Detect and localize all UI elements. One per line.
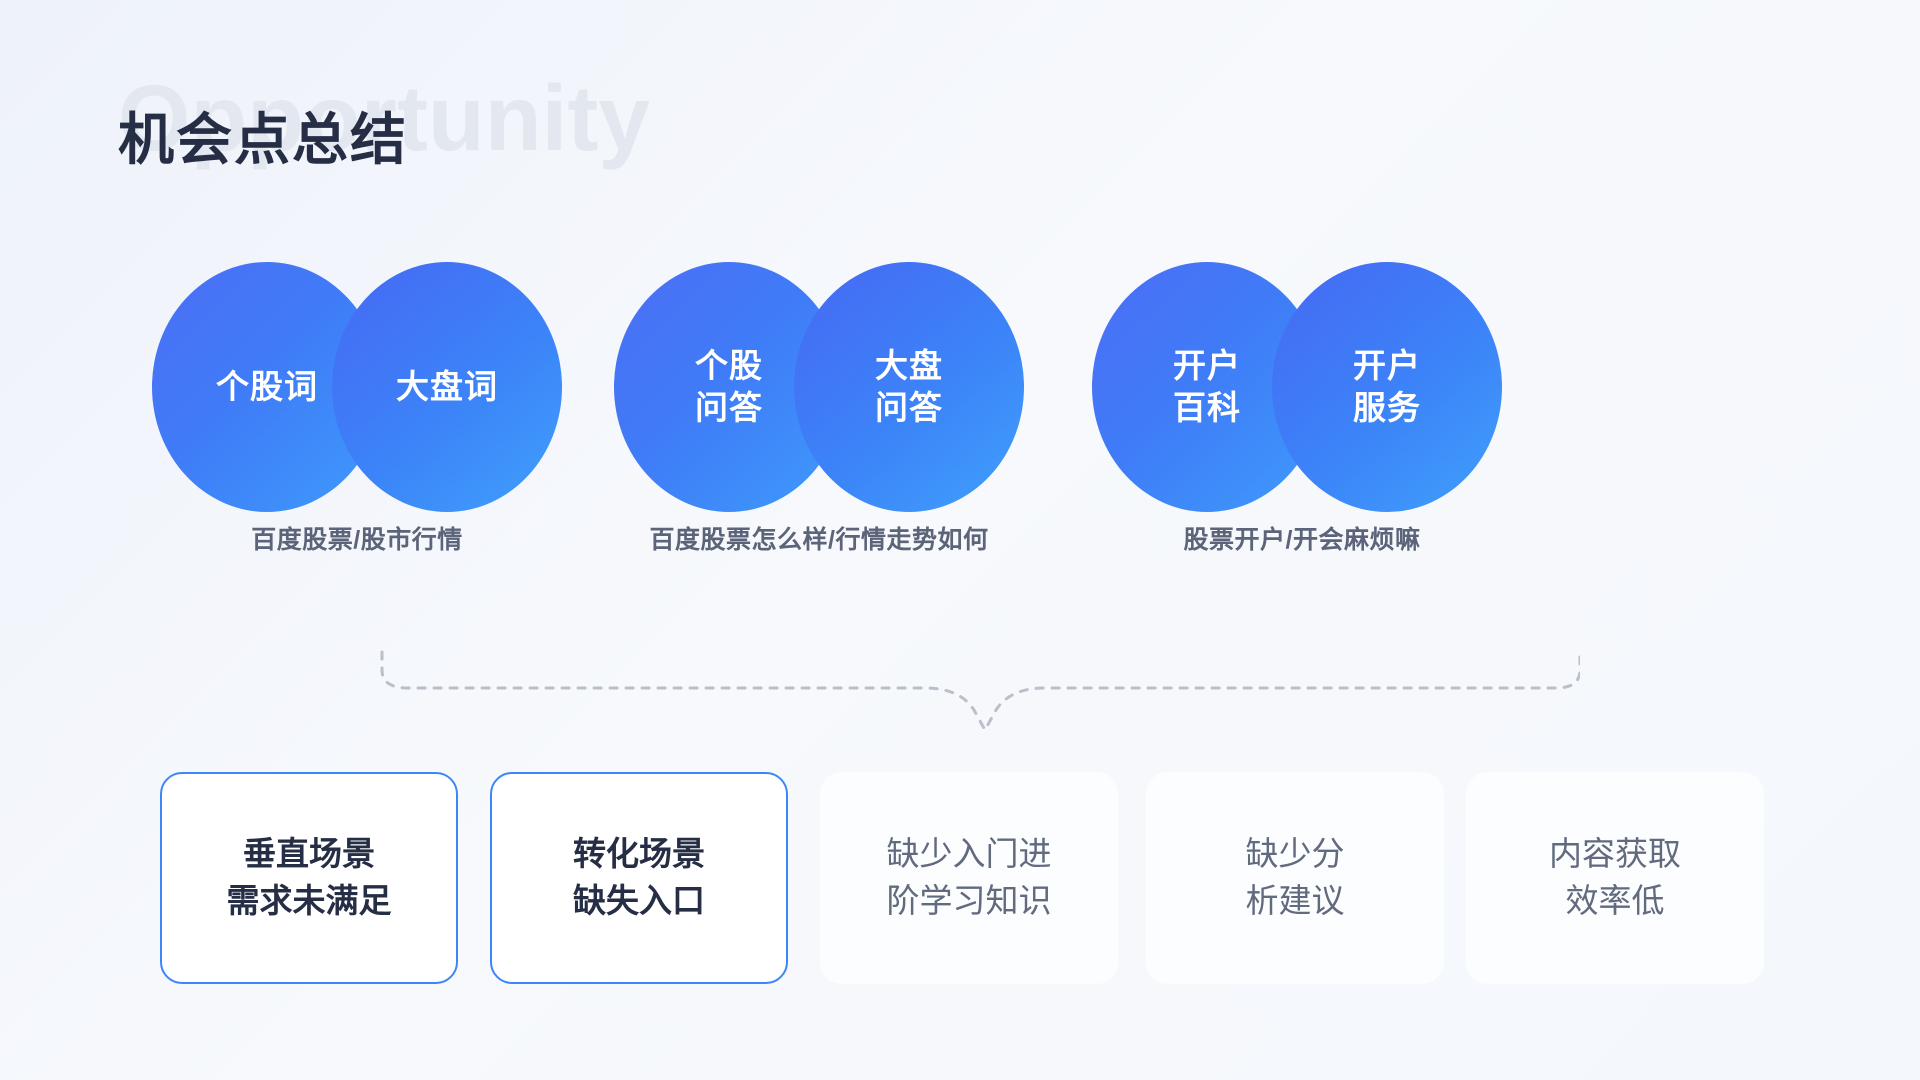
card-vertical-scenario[interactable]: 垂直场景 需求未满足 (160, 772, 458, 984)
dashed-brace-connector (360, 630, 1580, 750)
card-conversion-scenario[interactable]: 转化场景 缺失入口 (490, 772, 788, 984)
circle-label: 开户 服务 (1353, 345, 1421, 429)
circle-label: 大盘词 (396, 366, 498, 408)
circle-label: 大盘 问答 (875, 345, 943, 429)
page-title: 机会点总结 (118, 112, 408, 168)
circle-label: 个股 问答 (695, 345, 763, 429)
page-header: Opportunity 机会点总结 (118, 72, 1018, 212)
circle-market-word[interactable]: 大盘词 (332, 262, 562, 512)
circle-groups: 个股词 大盘词 百度股票/股市行情 个股 问答 大盘 问答 百度股票怎么样/行情… (0, 262, 1920, 592)
card-label: 转化场景 缺失入口 (573, 831, 705, 925)
circle-label: 个股词 (216, 366, 318, 408)
circle-group-1: 个股 问答 大盘 问答 百度股票怎么样/行情走势如何 (614, 262, 1024, 592)
circle-label: 开户 百科 (1173, 345, 1241, 429)
brace-path (382, 652, 1580, 730)
circle-pair: 个股词 大盘词 (152, 262, 562, 512)
group-caption-2: 股票开户/开会麻烦嘛 (1122, 520, 1482, 556)
circle-account-service[interactable]: 开户 服务 (1272, 262, 1502, 512)
card-label: 缺少分 析建议 (1246, 831, 1345, 925)
group-caption-1: 百度股票怎么样/行情走势如何 (589, 520, 1049, 556)
card-lack-beginner-knowledge[interactable]: 缺少入门进 阶学习知识 (820, 772, 1118, 984)
circle-group-2: 开户 百科 开户 服务 股票开户/开会麻烦嘛 (1092, 262, 1502, 592)
circle-pair: 开户 百科 开户 服务 (1092, 262, 1502, 512)
circle-market-qa[interactable]: 大盘 问答 (794, 262, 1024, 512)
card-lack-analysis-advice[interactable]: 缺少分 析建议 (1146, 772, 1444, 984)
group-caption-0: 百度股票/股市行情 (192, 520, 522, 556)
circle-group-0: 个股词 大盘词 百度股票/股市行情 (152, 262, 562, 592)
circle-pair: 个股 问答 大盘 问答 (614, 262, 1024, 512)
card-label: 缺少入门进 阶学习知识 (887, 831, 1052, 925)
insight-cards: 垂直场景 需求未满足 转化场景 缺失入口 缺少入门进 阶学习知识 缺少分 析建议… (0, 772, 1920, 992)
card-label: 内容获取 效率低 (1549, 831, 1681, 925)
card-label: 垂直场景 需求未满足 (227, 831, 392, 925)
card-low-content-efficiency[interactable]: 内容获取 效率低 (1466, 772, 1764, 984)
